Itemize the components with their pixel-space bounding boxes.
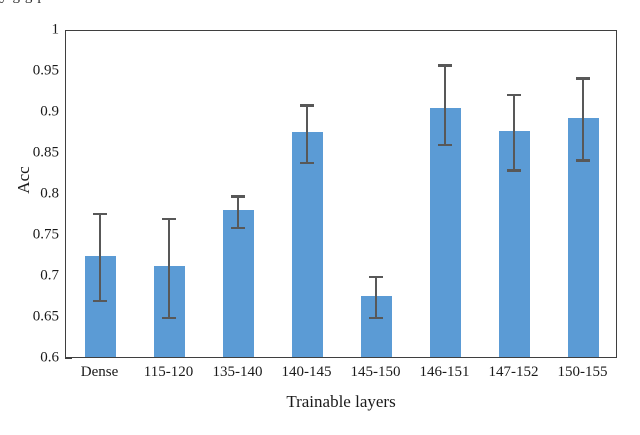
x-tick-label: 135-140 (203, 364, 272, 381)
y-tick-label: 0.75 (0, 228, 59, 243)
error-bar-line (375, 277, 377, 318)
error-bar-cap-upper (300, 104, 314, 107)
error-bar-line (582, 79, 584, 161)
error-bar-cap-lower (93, 300, 107, 303)
plot-area (65, 30, 617, 358)
error-bar-line (168, 219, 170, 318)
y-tick-label: 0.6 (0, 351, 59, 366)
error-bar-cap-lower (576, 159, 590, 162)
error-bar-cap-lower (300, 162, 314, 165)
error-bar-cap-lower (369, 317, 383, 320)
error-bar-line (306, 106, 308, 163)
error-bar-cap-upper (507, 94, 521, 97)
error-bar-line (513, 95, 515, 170)
bar-group (223, 31, 255, 357)
x-tick-label: Dense (65, 364, 134, 381)
y-tick-label: 0.7 (0, 269, 59, 284)
bar (223, 210, 255, 357)
x-tick-label: 150-155 (548, 364, 617, 381)
bar-group (154, 31, 186, 357)
bar-group (568, 31, 600, 357)
error-bar-line (444, 65, 446, 145)
x-axis-title: Trainable layers (65, 392, 617, 412)
bars-layer (66, 31, 616, 357)
bar-group (85, 31, 117, 357)
y-tick-label: 0.8 (0, 187, 59, 202)
error-bar-cap-lower (162, 317, 176, 320)
y-tick-label: 0.9 (0, 105, 59, 120)
x-tick-label: 145-150 (341, 364, 410, 381)
error-bar-cap-lower (231, 227, 245, 230)
x-tick-label: 115-120 (134, 364, 203, 381)
error-bar-cap-upper (93, 213, 107, 216)
bar-chart-figure: Acc 0.60.650.70.750.80.850.90.951 Dense1… (0, 0, 640, 435)
error-bar-cap-upper (438, 64, 452, 67)
x-tick-label: 146-151 (410, 364, 479, 381)
y-tick-label: 0.95 (0, 64, 59, 79)
error-bar-line (237, 197, 239, 228)
error-bar-cap-upper (162, 218, 176, 221)
error-bar-line (99, 214, 101, 301)
y-tick-label: 0.65 (0, 310, 59, 325)
error-bar-cap-lower (438, 144, 452, 147)
bar (292, 132, 324, 357)
bar-group (430, 31, 462, 357)
error-bar-cap-upper (369, 276, 383, 279)
bar-group (499, 31, 531, 357)
y-tick-mark (65, 358, 72, 359)
x-tick-label: 147-152 (479, 364, 548, 381)
bar-group (361, 31, 393, 357)
y-tick-label: 1 (0, 23, 59, 38)
bar-group (292, 31, 324, 357)
error-bar-cap-lower (507, 169, 521, 172)
x-tick-label: 140-145 (272, 364, 341, 381)
error-bar-cap-upper (576, 77, 590, 80)
y-tick-label: 0.85 (0, 146, 59, 161)
error-bar-cap-upper (231, 195, 245, 198)
